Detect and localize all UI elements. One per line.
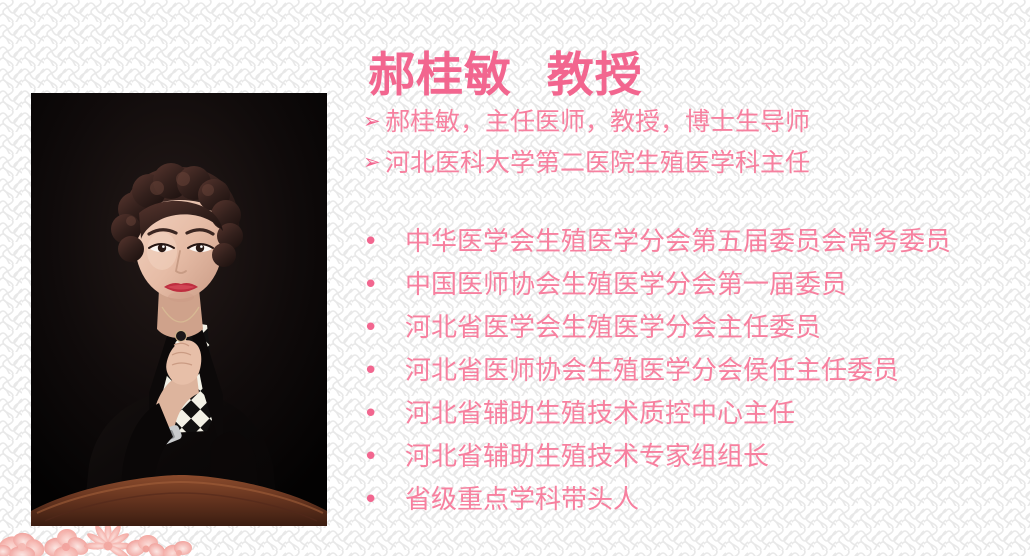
page-title: 郝桂敏 教授 [368,50,643,103]
list-item-label: 河北省辅助生殖技术质控中心主任 [405,393,795,436]
list-item: • 河北省辅助生殖技术专家组组长 [363,436,1030,479]
list-item-label: 河北医科大学第二医院生殖医学科主任 [385,142,810,183]
dot-bullet-icon: • [363,479,405,522]
list-item-label: 中华医学会生殖医学分会第五届委员会常务委员 [405,221,951,264]
list-item-label: 省级重点学科带头人 [405,479,639,522]
arrow-bullet-list: ➢ 郝桂敏，主任医师，教授，博士生导师 ➢ 河北医科大学第二医院生殖医学科主任 [363,101,1023,183]
list-item: • 中国医师协会生殖医学分会第一届委员 [363,264,1030,307]
list-item-label: 中国医师协会生殖医学分会第一届委员 [405,264,847,307]
dot-bullet-icon: • [363,307,405,350]
list-item: • 河北省医师协会生殖医学分会侯任主任委员 [363,350,1030,393]
dot-bullet-icon: • [363,221,405,264]
dot-bullet-list: • 中华医学会生殖医学分会第五届委员会常务委员 • 中国医师协会生殖医学分会第一… [363,221,1030,522]
arrow-bullet-icon: ➢ [363,142,384,183]
dot-bullet-icon: • [363,350,405,393]
list-item: • 省级重点学科带头人 [363,479,1030,522]
dot-bullet-icon: • [363,436,405,479]
list-item: ➢ 河北医科大学第二医院生殖医学科主任 [363,142,1023,183]
list-item: ➢ 郝桂敏，主任医师，教授，博士生导师 [363,101,1023,142]
text-content: 郝桂敏 教授 ➢ 郝桂敏，主任医师，教授，博士生导师 ➢ 河北医科大学第二医院生… [360,0,1030,556]
list-item-label: 河北省辅助生殖技术专家组组长 [405,436,769,479]
speaker-portrait-photo [31,93,327,526]
list-item-label: 河北省医学会生殖医学分会主任委员 [405,307,821,350]
list-item-label: 河北省医师协会生殖医学分会侯任主任委员 [405,350,899,393]
dot-bullet-icon: • [363,393,405,436]
list-item: • 河北省医学会生殖医学分会主任委员 [363,307,1030,350]
arrow-bullet-icon: ➢ [363,101,384,142]
dot-bullet-icon: • [363,264,405,307]
list-item: • 中华医学会生殖医学分会第五届委员会常务委员 [363,221,1030,264]
list-item: • 河北省辅助生殖技术质控中心主任 [363,393,1030,436]
list-item-label: 郝桂敏，主任医师，教授，博士生导师 [385,101,810,142]
portrait-illustration [31,93,327,526]
slide-root: 郝桂敏 教授 ➢ 郝桂敏，主任医师，教授，博士生导师 ➢ 河北医科大学第二医院生… [0,0,1030,556]
